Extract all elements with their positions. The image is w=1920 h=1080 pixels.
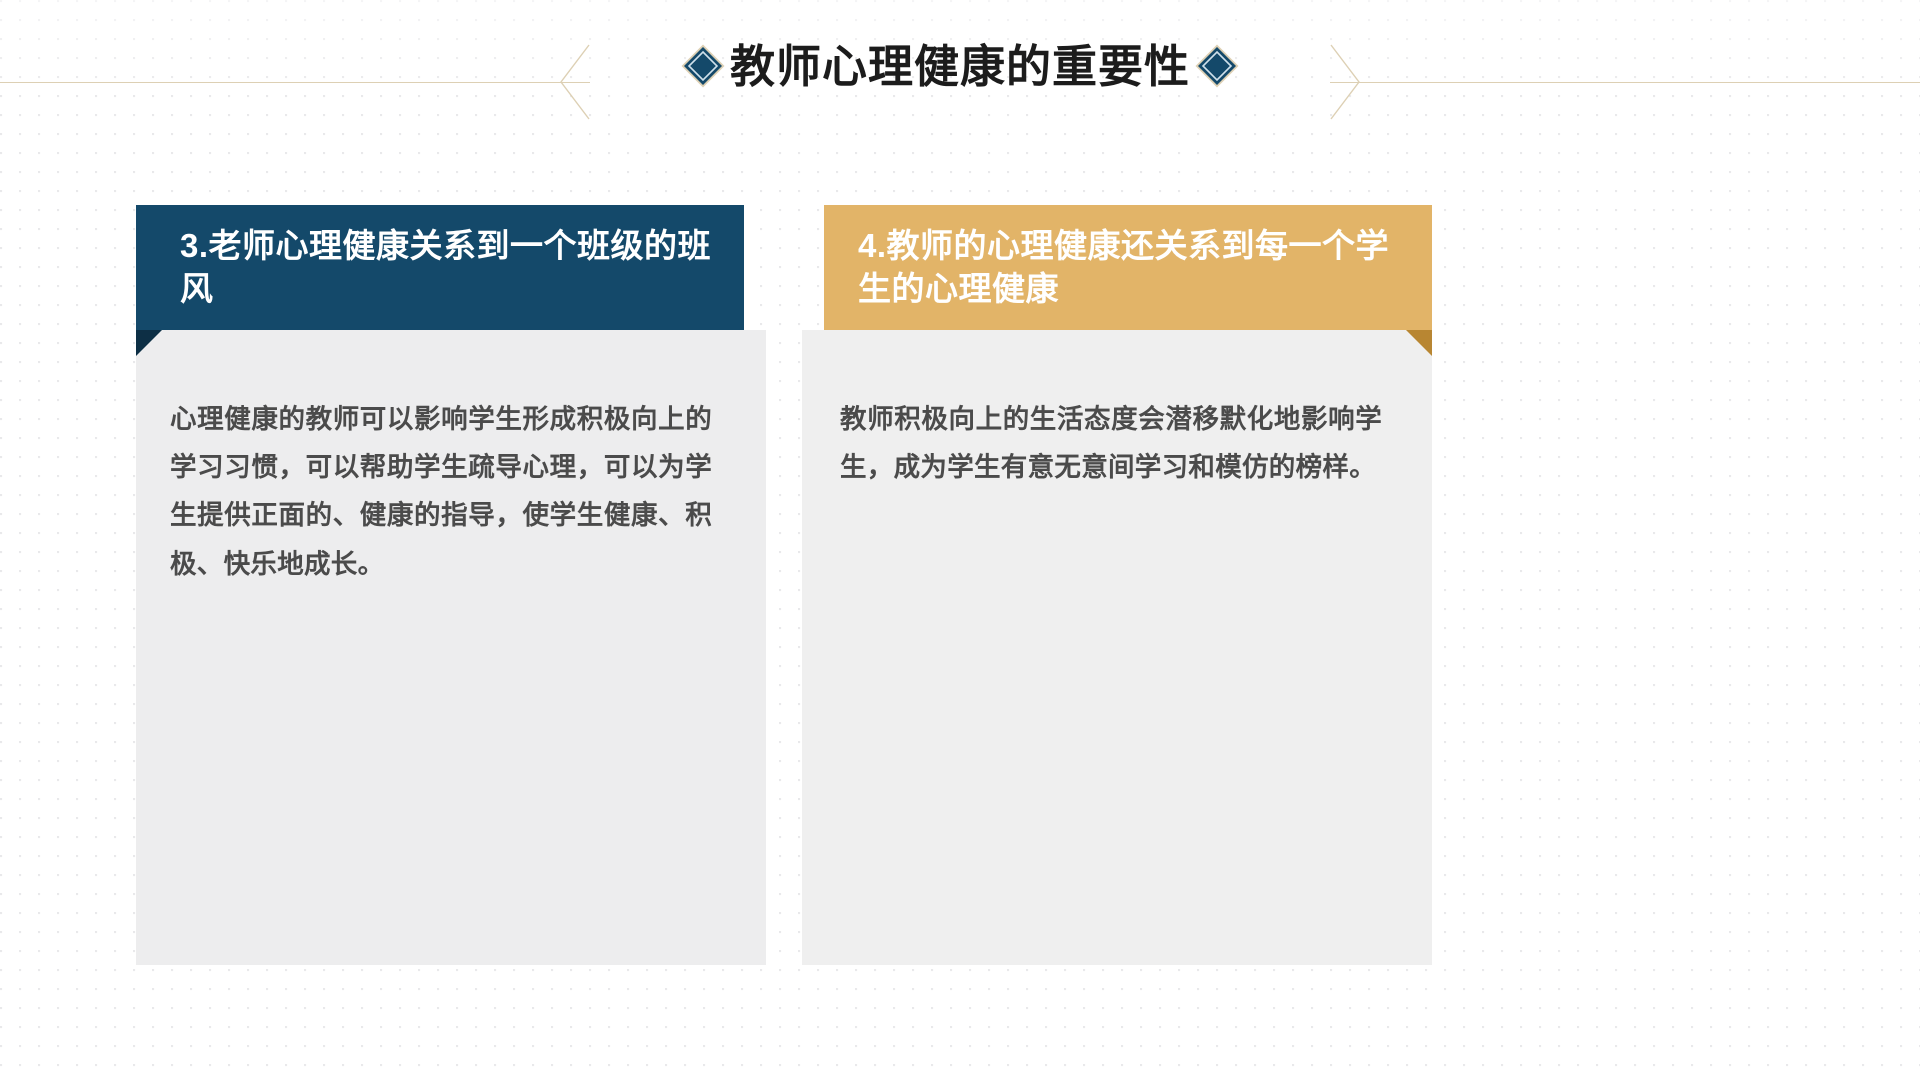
diamond-right-icon [1194, 43, 1240, 89]
diamond-left-icon [680, 43, 726, 89]
card-3-heading: 3.老师心理健康关系到一个班级的班风 [180, 225, 716, 309]
card-4-heading: 4.教师的心理健康还关系到每一个学生的心理健康 [858, 225, 1402, 309]
content-cards: 3.老师心理健康关系到一个班级的班风 心理健康的教师可以影响学生形成积极向上的学… [0, 0, 1920, 1080]
page-title: 教师心理健康的重要性 [730, 44, 1190, 89]
card-4-ribbon-fold [1406, 330, 1432, 356]
card-3-ribbon-fold [136, 330, 162, 356]
card-4-body-text: 教师积极向上的生活态度会潜移默化地影响学生，成为学生有意无意间学习和模仿的榜样。 [840, 395, 1382, 491]
slide-header: 教师心理健康的重要性 [0, 0, 1920, 150]
card-3-body-text: 心理健康的教师可以影响学生形成积极向上的学习习惯，可以帮助学生疏导心理，可以为学… [170, 395, 712, 588]
card-3-ribbon-header: 3.老师心理健康关系到一个班级的班风 [136, 205, 744, 330]
card-4-ribbon-header: 4.教师的心理健康还关系到每一个学生的心理健康 [824, 205, 1432, 330]
page-title-group: 教师心理健康的重要性 [0, 32, 1920, 100]
